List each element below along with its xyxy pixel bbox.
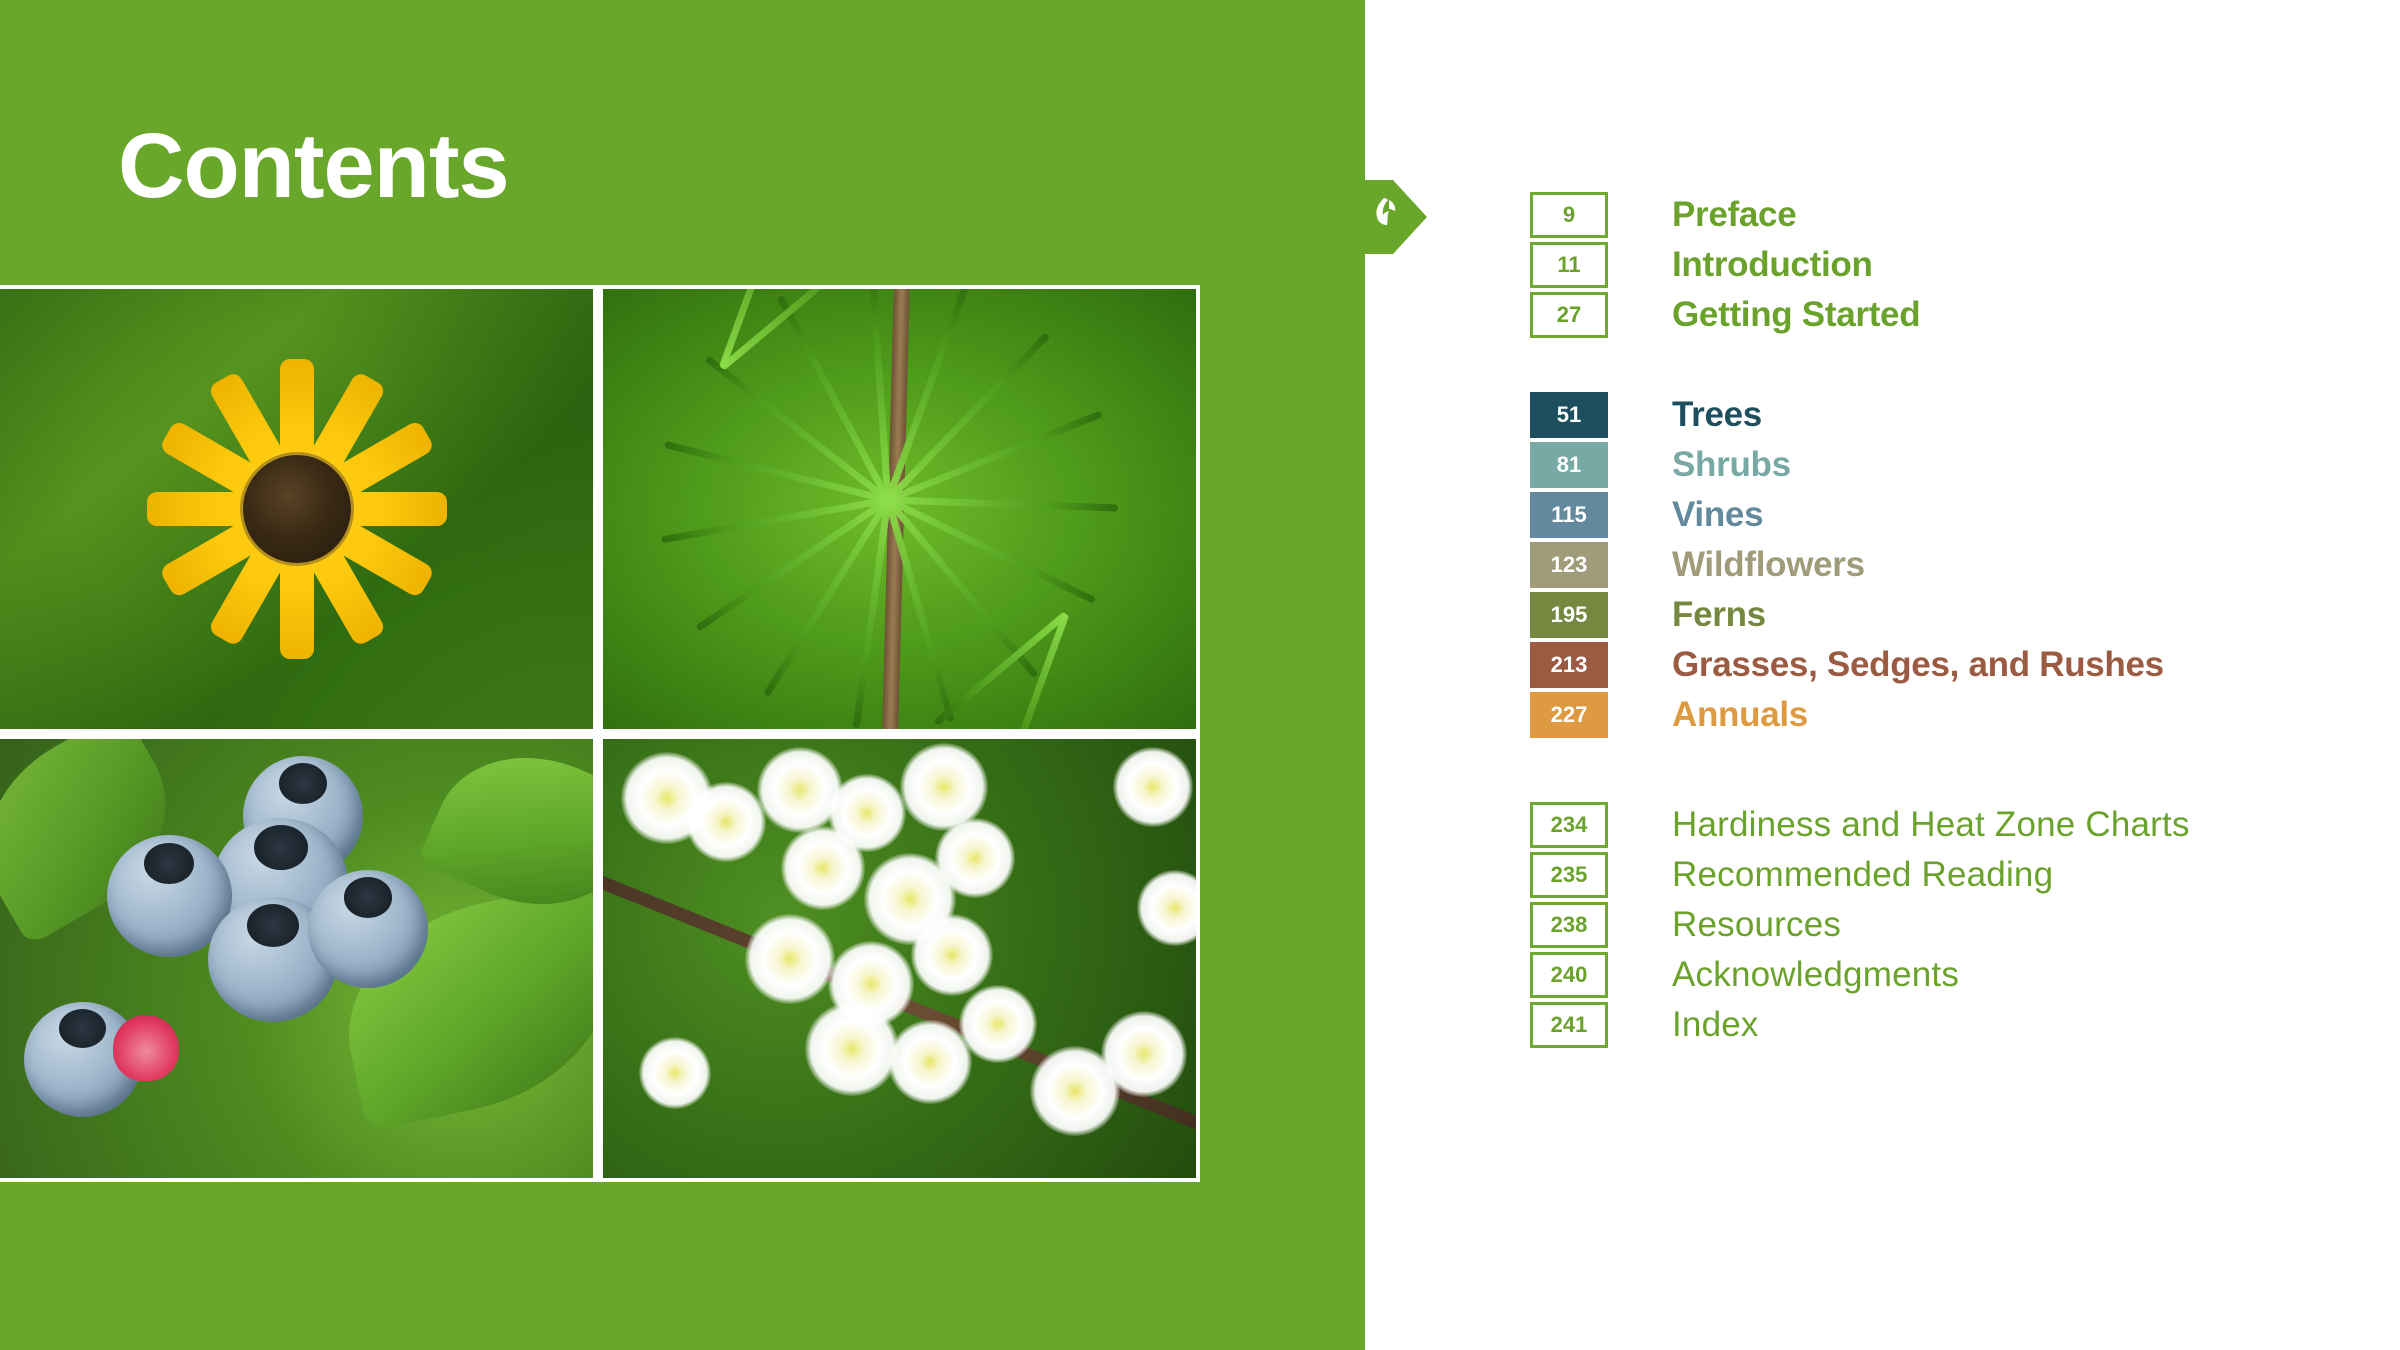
page-number-box: 227 bbox=[1530, 692, 1608, 738]
page-number-box: 9 bbox=[1530, 192, 1608, 238]
toc-row[interactable]: 9Preface bbox=[1530, 190, 1920, 240]
toc-row[interactable]: 195Ferns bbox=[1530, 590, 2164, 640]
photo-clematis bbox=[603, 739, 1196, 1179]
toc-entry-label[interactable]: Acknowledgments bbox=[1672, 955, 1959, 995]
page-number-box: 240 bbox=[1530, 952, 1608, 998]
toc-row[interactable]: 235Recommended Reading bbox=[1530, 850, 2190, 900]
toc-entry-label[interactable]: Shrubs bbox=[1672, 445, 1791, 485]
toc-row[interactable]: 238Resources bbox=[1530, 900, 2190, 950]
page-number-box: 123 bbox=[1530, 542, 1608, 588]
page-number-box: 51 bbox=[1530, 392, 1608, 438]
toc-entry-label[interactable]: Index bbox=[1672, 1005, 1759, 1045]
toc-entry-label[interactable]: Wildflowers bbox=[1672, 545, 1865, 585]
front-matter-group: 9Preface11Introduction27Getting Started bbox=[1530, 190, 1920, 340]
contents-column: 9Preface11Introduction27Getting Started … bbox=[1530, 0, 2390, 1350]
page-number-box: 213 bbox=[1530, 642, 1608, 688]
arrow-tab bbox=[1365, 180, 1427, 254]
toc-row[interactable]: 241Index bbox=[1530, 1000, 2190, 1050]
page-number-box: 241 bbox=[1530, 1002, 1608, 1048]
toc-entry-label[interactable]: Vines bbox=[1672, 495, 1763, 535]
toc-entry-label[interactable]: Trees bbox=[1672, 395, 1762, 435]
page-title: Contents bbox=[118, 120, 509, 212]
toc-row[interactable]: 234Hardiness and Heat Zone Charts bbox=[1530, 800, 2190, 850]
toc-entry-label[interactable]: Grasses, Sedges, and Rushes bbox=[1672, 645, 2164, 685]
toc-entry-label[interactable]: Recommended Reading bbox=[1672, 855, 2053, 895]
blueberry-flower bbox=[113, 1015, 179, 1081]
page-number-box: 195 bbox=[1530, 592, 1608, 638]
toc-entry-label[interactable]: Annuals bbox=[1672, 695, 1808, 735]
photo-blueberries bbox=[0, 739, 593, 1179]
toc-row[interactable]: 51Trees bbox=[1530, 390, 2164, 440]
page-number-box: 11 bbox=[1530, 242, 1608, 288]
toc-row[interactable]: 27Getting Started bbox=[1530, 290, 1920, 340]
page-number-box: 235 bbox=[1530, 852, 1608, 898]
toc-row[interactable]: 227Annuals bbox=[1530, 690, 2164, 740]
toc-row[interactable]: 240Acknowledgments bbox=[1530, 950, 2190, 1000]
page-number-box: 115 bbox=[1530, 492, 1608, 538]
back-matter-group: 234Hardiness and Heat Zone Charts235Reco… bbox=[1530, 800, 2190, 1050]
toc-entry-label[interactable]: Resources bbox=[1672, 905, 1841, 945]
photo-black-eyed-susan bbox=[0, 289, 593, 729]
flower-center bbox=[243, 455, 351, 563]
page-number-box: 238 bbox=[1530, 902, 1608, 948]
toc-row[interactable]: 213Grasses, Sedges, and Rushes bbox=[1530, 640, 2164, 690]
photo-grid bbox=[0, 285, 1200, 1182]
toc-row[interactable]: 81Shrubs bbox=[1530, 440, 2164, 490]
page-number-box: 81 bbox=[1530, 442, 1608, 488]
toc-row[interactable]: 11Introduction bbox=[1530, 240, 1920, 290]
toc-entry-label[interactable]: Hardiness and Heat Zone Charts bbox=[1672, 805, 2190, 845]
toc-entry-label[interactable]: Introduction bbox=[1672, 245, 1873, 285]
toc-entry-label[interactable]: Getting Started bbox=[1672, 295, 1920, 335]
page-number-box: 234 bbox=[1530, 802, 1608, 848]
toc-row[interactable]: 123Wildflowers bbox=[1530, 540, 2164, 590]
toc-entry-label[interactable]: Preface bbox=[1672, 195, 1796, 235]
page-number-box: 27 bbox=[1530, 292, 1608, 338]
photo-conifer-needles bbox=[603, 289, 1196, 729]
toc-row[interactable]: 115Vines bbox=[1530, 490, 2164, 540]
toc-entry-label[interactable]: Ferns bbox=[1672, 595, 1766, 635]
sections-group: 51Trees81Shrubs115Vines123Wildflowers195… bbox=[1530, 390, 2164, 740]
